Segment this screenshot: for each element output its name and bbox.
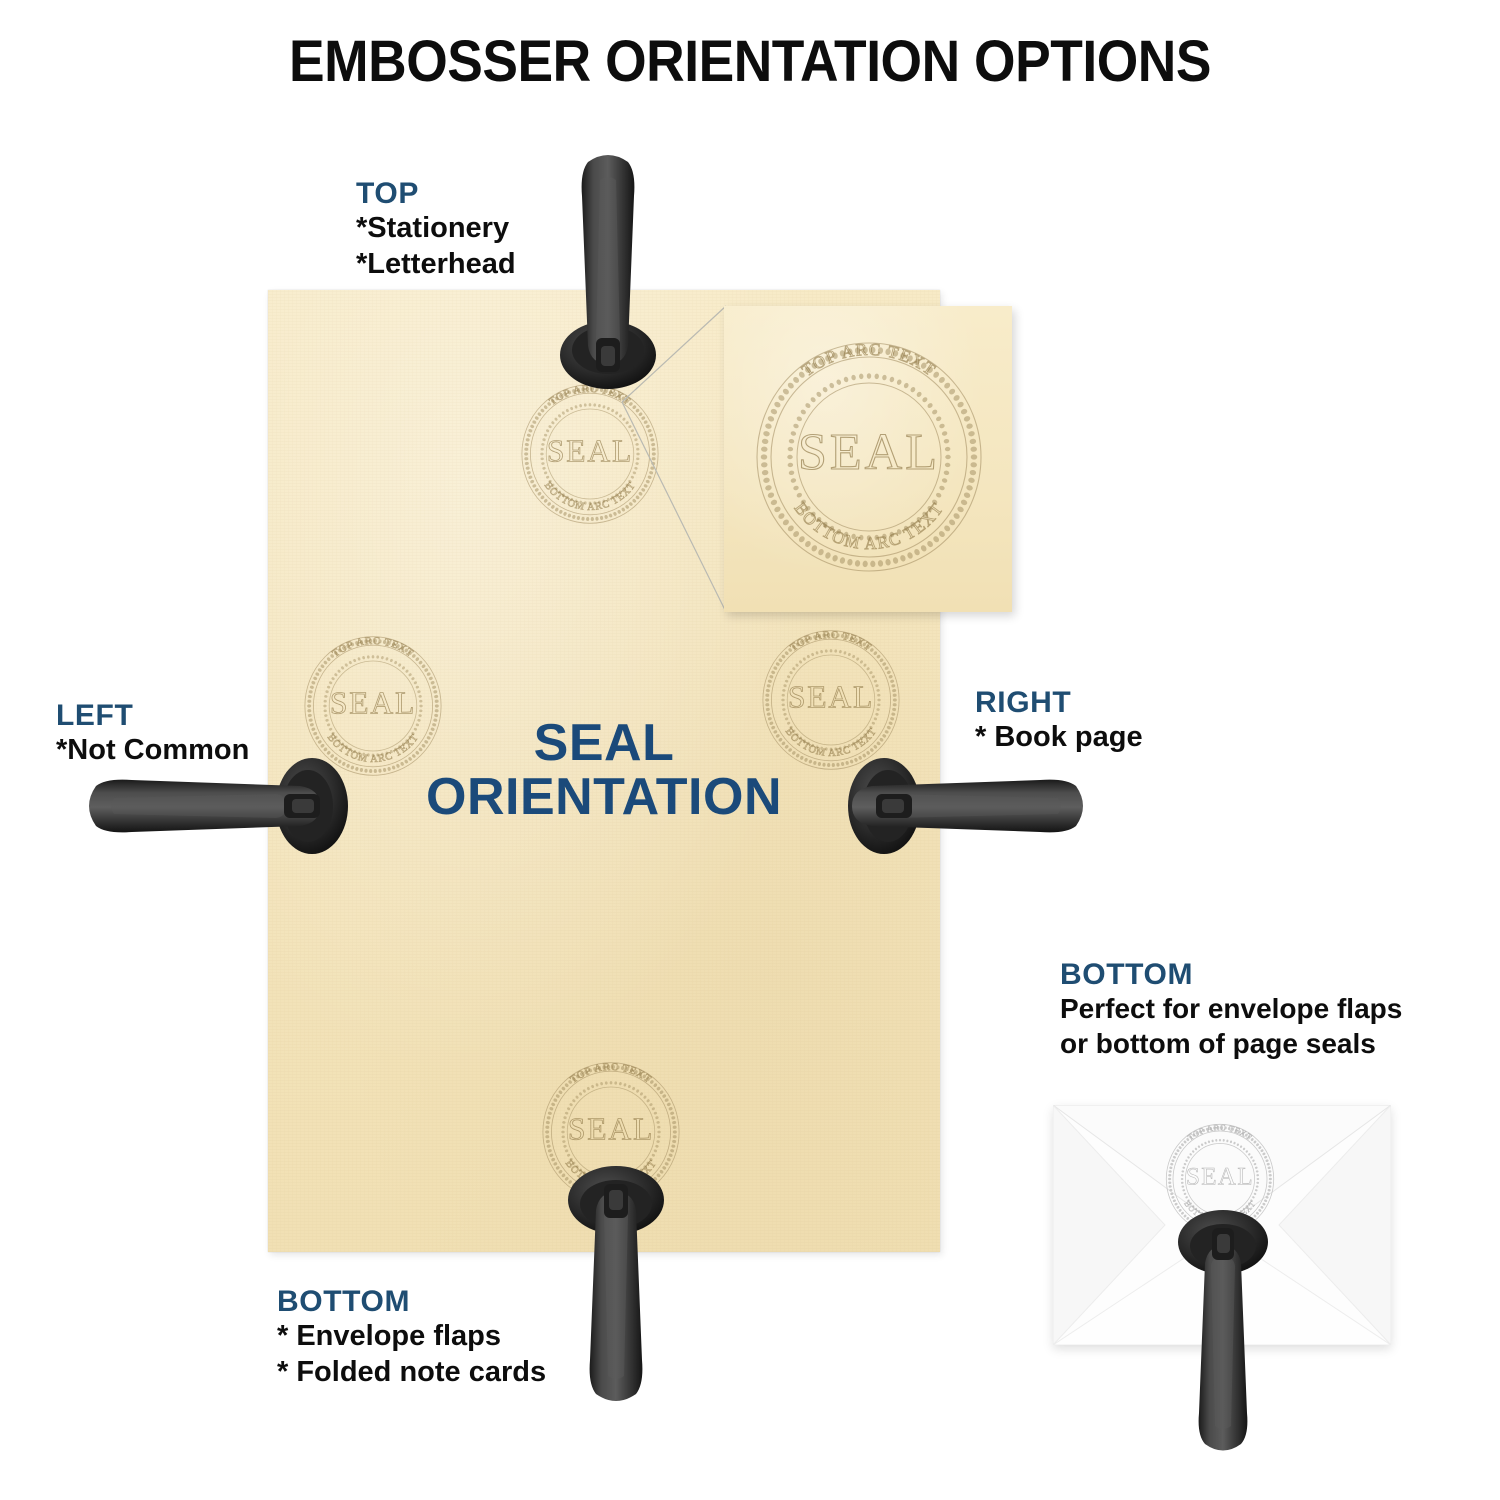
seal-center-text: SEAL [798, 424, 940, 481]
svg-text:BOTTOM ARC TEXT: BOTTOM ARC TEXT [791, 499, 948, 553]
label-bottom-right-heading: BOTTOM [1060, 957, 1402, 992]
embosser-envelope[interactable] [1168, 1190, 1278, 1460]
embosser-left[interactable] [84, 752, 354, 860]
svg-text:TOP ARC TEXT: TOP ARC TEXT [798, 340, 939, 380]
label-bottom-left-heading: BOTTOM [277, 1284, 546, 1319]
label-bottom-right: BOTTOM Perfect for envelope flaps or bot… [1060, 957, 1402, 1061]
embosser-right[interactable] [848, 752, 1088, 860]
label-top-line-1: *Stationery [356, 211, 516, 246]
seal-top-arc-text: TOP ARC TEXT [798, 340, 939, 380]
infographic-canvas: EMBOSSER ORIENTATION OPTIONS TOP ARC TEX… [0, 0, 1500, 1500]
label-right-heading: RIGHT [975, 685, 1143, 720]
embosser-bottom[interactable] [556, 1142, 676, 1410]
label-bottom-right-line-1: Perfect for envelope flaps [1060, 992, 1402, 1026]
label-right: RIGHT * Book page [975, 685, 1143, 756]
label-right-line-1: * Book page [975, 720, 1143, 755]
center-caption-line2: ORIENTATION [268, 770, 940, 824]
page-title: EMBOSSER ORIENTATION OPTIONS [60, 28, 1440, 95]
center-caption: SEAL ORIENTATION [268, 716, 940, 824]
seal-impression-magnified: TOP ARC TEXT BOTTOM ARC TEXT SEAL [746, 332, 992, 582]
label-top: TOP *Stationery *Letterhead [356, 176, 516, 282]
label-bottom-right-line-2: or bottom of page seals [1060, 1027, 1402, 1061]
seal-bottom-arc-text: BOTTOM ARC TEXT [791, 499, 948, 553]
label-left-heading: LEFT [56, 698, 249, 733]
embosser-top[interactable] [548, 150, 668, 395]
label-bottom-left-line-2: * Folded note cards [277, 1355, 546, 1390]
seal-magnifier-callout: TOP ARC TEXT BOTTOM ARC TEXT SEAL [724, 306, 1012, 612]
label-bottom-left: BOTTOM * Envelope flaps * Folded note ca… [277, 1284, 546, 1390]
center-caption-line1: SEAL [268, 716, 940, 770]
label-bottom-left-line-1: * Envelope flaps [277, 1319, 546, 1354]
label-top-heading: TOP [356, 176, 516, 211]
label-top-line-2: *Letterhead [356, 247, 516, 282]
